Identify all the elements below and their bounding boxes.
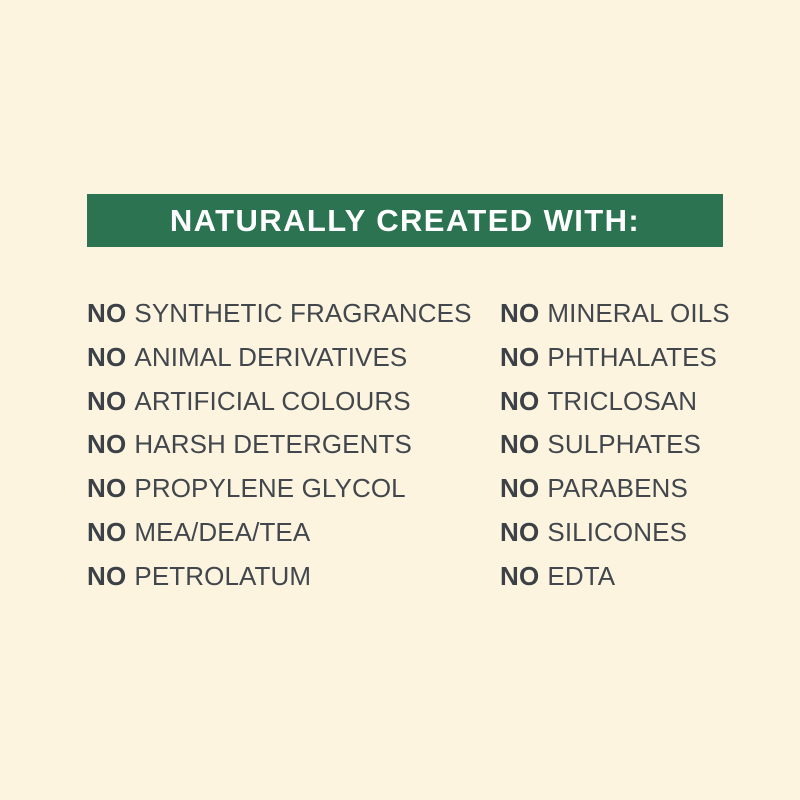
list-item-prefix: NO [500,431,539,457]
list-item-label: MINERAL OILS [547,300,729,326]
left-column: NO SYNTHETIC FRAGRANCES NO ANIMAL DERIVA… [87,300,500,607]
list-item-label: SULPHATES [547,431,701,457]
page-title: NATURALLY CREATED WITH: [170,205,640,236]
list-item-prefix: NO [87,300,126,326]
ingredient-exclusion-lists: NO SYNTHETIC FRAGRANCES NO ANIMAL DERIVA… [87,300,747,607]
list-item-prefix: NO [87,563,126,589]
list-item: NO HARSH DETERGENTS [87,431,500,475]
list-item-label: PARABENS [547,475,687,501]
list-item-prefix: NO [500,344,539,370]
list-item-prefix: NO [87,519,126,545]
list-item-label: ANIMAL DERIVATIVES [134,344,407,370]
list-item: NO SULPHATES [500,431,747,475]
list-item: NO SILICONES [500,519,747,563]
poster-canvas: NATURALLY CREATED WITH: NO SYNTHETIC FRA… [0,0,800,800]
list-item-label: ARTIFICIAL COLOURS [134,388,410,414]
list-item-prefix: NO [87,475,126,501]
list-item-label: SYNTHETIC FRAGRANCES [134,300,471,326]
list-item: NO ANIMAL DERIVATIVES [87,344,500,388]
list-item-prefix: NO [500,300,539,326]
list-item: NO PROPYLENE GLYCOL [87,475,500,519]
list-item-prefix: NO [87,344,126,370]
list-item-label: TRICLOSAN [547,388,697,414]
list-item-label: SILICONES [547,519,687,545]
list-item-label: HARSH DETERGENTS [134,431,412,457]
list-item: NO SYNTHETIC FRAGRANCES [87,300,500,344]
list-item: NO PARABENS [500,475,747,519]
list-item-prefix: NO [500,388,539,414]
list-item-prefix: NO [500,475,539,501]
list-item: NO ARTIFICIAL COLOURS [87,388,500,432]
header-banner: NATURALLY CREATED WITH: [87,194,723,247]
list-item: NO MEA/DEA/TEA [87,519,500,563]
list-item-prefix: NO [500,563,539,589]
list-item: NO PETROLATUM [87,563,500,607]
list-item-prefix: NO [500,519,539,545]
list-item: NO MINERAL OILS [500,300,747,344]
list-item-prefix: NO [87,388,126,414]
list-item: NO TRICLOSAN [500,388,747,432]
list-item-label: PROPYLENE GLYCOL [134,475,405,501]
list-item-prefix: NO [87,431,126,457]
list-item-label: PETROLATUM [134,563,311,589]
list-item-label: MEA/DEA/TEA [134,519,310,545]
right-column: NO MINERAL OILS NO PHTHALATES NO TRICLOS… [500,300,747,607]
list-item: NO EDTA [500,563,747,607]
list-item-label: EDTA [547,563,615,589]
list-item: NO PHTHALATES [500,344,747,388]
list-item-label: PHTHALATES [547,344,717,370]
